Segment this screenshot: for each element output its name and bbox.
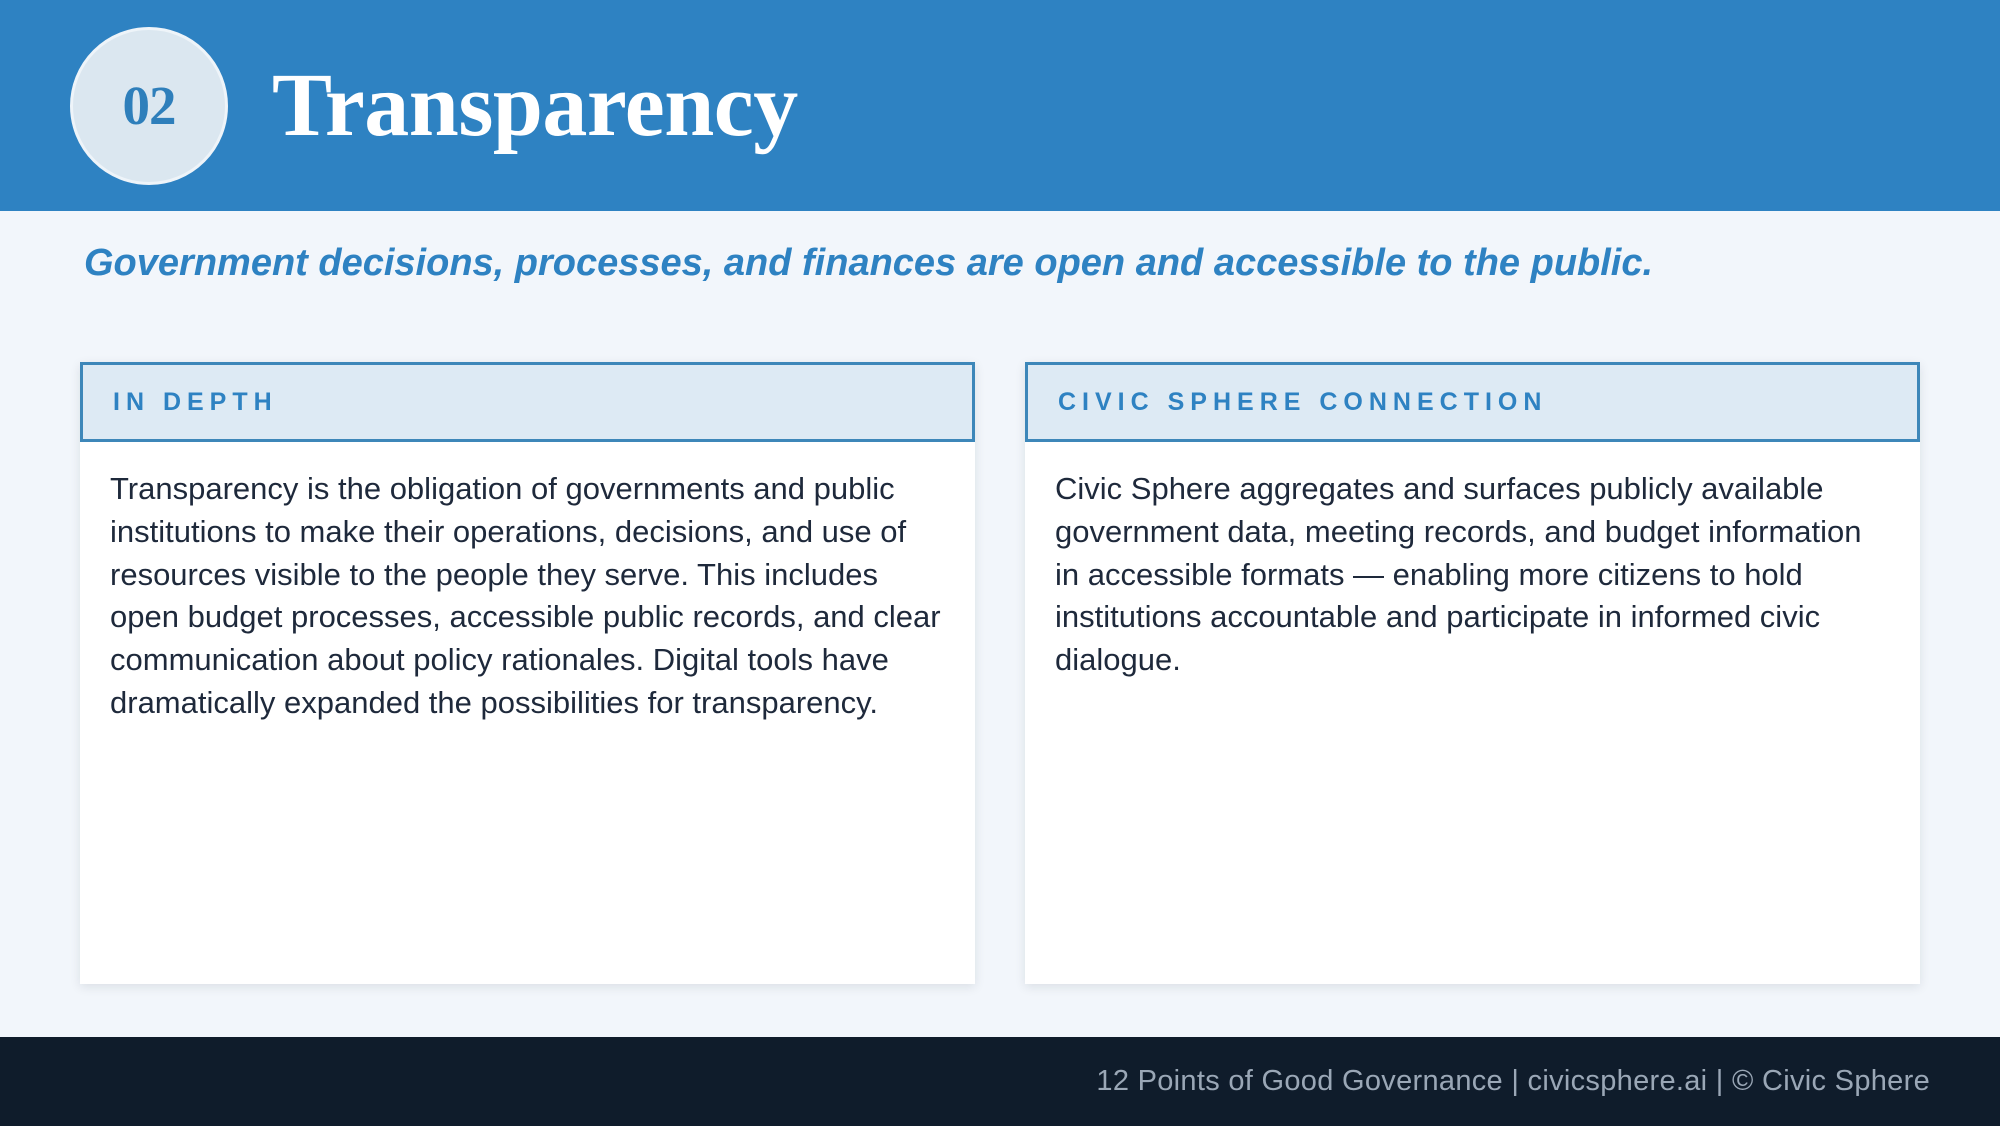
card-in-depth: IN DEPTH Transparency is the obligation …: [80, 362, 975, 984]
point-number-text: 02: [123, 78, 176, 133]
point-number-badge: 02: [70, 27, 228, 185]
footer-text: 12 Points of Good Governance | civicsphe…: [1096, 1065, 1930, 1098]
card-in-depth-label: IN DEPTH: [113, 388, 278, 417]
card-in-depth-text: Transparency is the obligation of govern…: [110, 468, 945, 725]
card-civic-sphere-connection-header: CIVIC SPHERE CONNECTION: [1025, 362, 1920, 442]
card-civic-sphere-connection: CIVIC SPHERE CONNECTION Civic Sphere agg…: [1025, 362, 1920, 984]
card-in-depth-header: IN DEPTH: [80, 362, 975, 442]
card-civic-sphere-connection-label: CIVIC SPHERE CONNECTION: [1058, 388, 1547, 417]
page-title: Transparency: [272, 61, 798, 151]
page-header: 02 Transparency: [0, 0, 2000, 211]
page-subtitle: Government decisions, processes, and fin…: [84, 240, 1914, 288]
card-civic-sphere-connection-text: Civic Sphere aggregates and surfaces pub…: [1055, 468, 1890, 682]
card-in-depth-body: Transparency is the obligation of govern…: [80, 442, 975, 984]
page-footer: 12 Points of Good Governance | civicsphe…: [0, 1037, 2000, 1126]
content-cards-container: IN DEPTH Transparency is the obligation …: [80, 362, 1920, 984]
card-civic-sphere-connection-body: Civic Sphere aggregates and surfaces pub…: [1025, 442, 1920, 984]
